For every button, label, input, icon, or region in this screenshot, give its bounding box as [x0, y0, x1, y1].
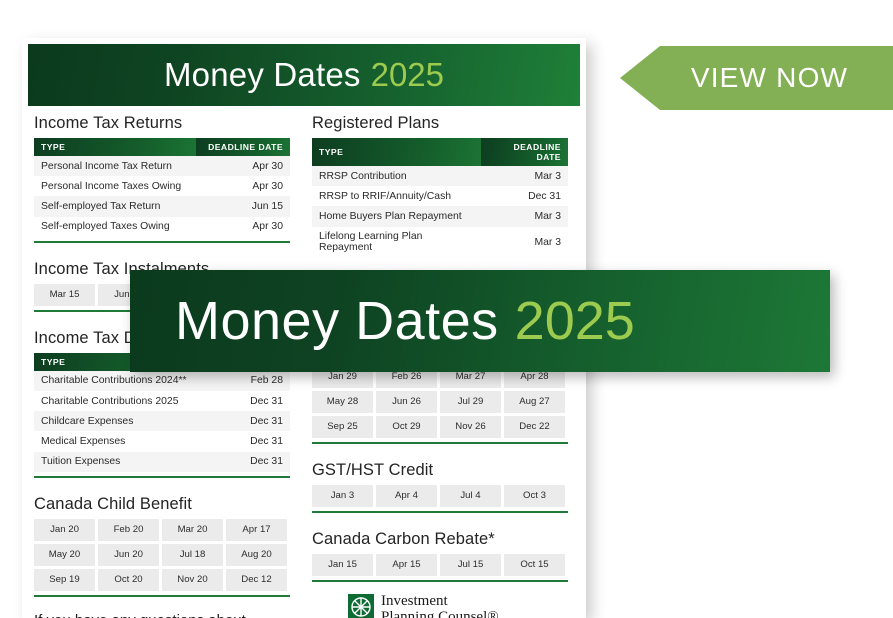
table-header-row: TYPE DEADLINE DATE [34, 138, 290, 156]
date-chip: Nov 20 [162, 569, 223, 591]
cell-type: RRSP to RRIF/Annuity/Cash [312, 186, 481, 206]
card-header-banner: Money Dates 2025 [28, 44, 580, 106]
cell-date: Dec 31 [198, 452, 290, 472]
date-chip: Jul 18 [162, 544, 223, 566]
table-row: Charitable Contributions 2025 Dec 31 [34, 391, 290, 411]
footer-note-text: If you have any questions about [34, 612, 290, 618]
table-header-row: TYPE DEADLINE DATE [312, 138, 568, 166]
date-chip: Nov 26 [440, 416, 501, 438]
col-header-deadline: DEADLINE DATE [196, 138, 290, 156]
cell-type: Personal Income Taxes Owing [34, 176, 196, 196]
cell-type: Charitable Contributions 2025 [34, 391, 198, 411]
date-chip: Jul 4 [440, 485, 501, 507]
cell-date: Mar 3 [481, 206, 568, 226]
table-row: Childcare Expenses Dec 31 [34, 411, 290, 431]
col-header-type: TYPE [34, 138, 196, 156]
card-header-title: Money Dates [164, 56, 361, 94]
logo-line-1: Investment [381, 594, 499, 610]
ccr-date-chips: Jan 15 Apr 15 Jul 15 Oct 15 [312, 554, 568, 576]
logo-text: Investment Planning Counsel® [381, 594, 499, 618]
date-chip: May 28 [312, 391, 373, 413]
section-canada-carbon-rebate: Canada Carbon Rebate* Jan 15 Apr 15 Jul … [312, 530, 568, 582]
date-chip: Mar 20 [162, 519, 223, 541]
registered-plans-table: TYPE DEADLINE DATE RRSP Contribution Mar… [312, 138, 568, 258]
ccb-date-chips: Jan 20 Feb 20 Mar 20 Apr 17 May 20 Jun 2… [34, 519, 290, 591]
gst-date-chips: Jan 3 Apr 4 Jul 4 Oct 3 [312, 485, 568, 507]
date-chip: Oct 15 [504, 554, 565, 576]
section-canada-child-benefit: Canada Child Benefit Jan 20 Feb 20 Mar 2… [34, 495, 290, 597]
section-title: Registered Plans [312, 114, 568, 133]
date-chip: Mar 15 [34, 284, 95, 306]
section-registered-plans: Registered Plans TYPE DEADLINE DATE RRSP… [312, 114, 568, 258]
date-chip: Oct 29 [376, 416, 437, 438]
pinwheel-logo-icon [348, 594, 374, 618]
cell-date: Jun 15 [196, 196, 290, 216]
company-logo: Investment Planning Counsel® [312, 594, 568, 618]
income-tax-returns-table: TYPE DEADLINE DATE Personal Income Tax R… [34, 138, 290, 237]
section-title: Income Tax Returns [34, 114, 290, 133]
cell-type: Home Buyers Plan Repayment [312, 206, 481, 226]
section-gst-hst-credit: GST/HST Credit Jan 3 Apr 4 Jul 4 Oct 3 [312, 461, 568, 513]
table-row: RRSP Contribution Mar 3 [312, 166, 568, 186]
view-now-label: VIEW NOW [691, 62, 848, 94]
table-row: Self-employed Tax Return Jun 15 [34, 196, 290, 216]
date-chip: Jan 20 [34, 519, 95, 541]
date-chip: Apr 17 [226, 519, 287, 541]
section-old-age-security: Jan 29 Feb 26 Mar 27 Apr 28 May 28 Jun 2… [312, 366, 568, 444]
cell-date: Apr 30 [196, 156, 290, 176]
overlay-title: Money Dates [175, 290, 499, 352]
col-header-deadline: DEADLINE DATE [481, 138, 568, 166]
section-divider [312, 442, 568, 444]
cell-date: Apr 30 [196, 217, 290, 237]
date-chip: Oct 20 [98, 569, 159, 591]
date-chip: Jul 29 [440, 391, 501, 413]
table-row: Medical Expenses Dec 31 [34, 431, 290, 451]
date-chip: Jan 3 [312, 485, 373, 507]
section-divider [34, 476, 290, 478]
section-divider [312, 580, 568, 582]
oas-date-chips: Jan 29 Feb 26 Mar 27 Apr 28 May 28 Jun 2… [312, 366, 568, 438]
section-divider [34, 241, 290, 243]
section-income-tax-returns: Income Tax Returns TYPE DEADLINE DATE Pe… [34, 114, 290, 243]
table-row: Home Buyers Plan Repayment Mar 3 [312, 206, 568, 226]
cell-type: Tuition Expenses [34, 452, 198, 472]
table-row: Self-employed Taxes Owing Apr 30 [34, 217, 290, 237]
date-chip: Dec 12 [226, 569, 287, 591]
date-chip: Sep 19 [34, 569, 95, 591]
cell-type: Lifelong Learning Plan Repayment [312, 227, 481, 258]
date-chip: Feb 20 [98, 519, 159, 541]
cell-date: Dec 31 [481, 186, 568, 206]
date-chip: Jul 15 [440, 554, 501, 576]
cell-date: Dec 31 [198, 411, 290, 431]
overlay-year: 2025 [515, 290, 635, 352]
section-title: GST/HST Credit [312, 461, 568, 480]
section-title: Canada Child Benefit [34, 495, 290, 514]
cell-date: Mar 3 [481, 227, 568, 258]
date-chip: Dec 22 [504, 416, 565, 438]
cell-date: Mar 3 [481, 166, 568, 186]
table-row: Personal Income Tax Return Apr 30 [34, 156, 290, 176]
table-row: Lifelong Learning Plan Repayment Mar 3 [312, 227, 568, 258]
date-chip: Apr 4 [376, 485, 437, 507]
cell-type: Self-employed Taxes Owing [34, 217, 196, 237]
cell-type: Charitable Contributions 2024** [34, 371, 198, 391]
cell-type: Childcare Expenses [34, 411, 198, 431]
cell-type: Medical Expenses [34, 431, 198, 451]
date-chip: Aug 27 [504, 391, 565, 413]
cell-date: Apr 30 [196, 176, 290, 196]
cell-date: Dec 31 [198, 431, 290, 451]
cell-date: Dec 31 [198, 391, 290, 411]
date-chip: Jun 20 [98, 544, 159, 566]
cell-type: RRSP Contribution [312, 166, 481, 186]
cell-type: Personal Income Tax Return [34, 156, 196, 176]
card-header-year: 2025 [371, 56, 444, 94]
table-row: RRSP to RRIF/Annuity/Cash Dec 31 [312, 186, 568, 206]
table-row: Personal Income Taxes Owing Apr 30 [34, 176, 290, 196]
date-chip: Jan 15 [312, 554, 373, 576]
section-title: Canada Carbon Rebate* [312, 530, 568, 549]
view-now-button[interactable]: VIEW NOW [620, 46, 893, 110]
section-divider [312, 511, 568, 513]
date-chip: Jun 26 [376, 391, 437, 413]
overlay-title-banner[interactable]: Money Dates 2025 [130, 270, 830, 372]
cell-date: Feb 28 [198, 371, 290, 391]
cell-type: Self-employed Tax Return [34, 196, 196, 216]
date-chip: Oct 3 [504, 485, 565, 507]
date-chip: Aug 20 [226, 544, 287, 566]
date-chip: Apr 15 [376, 554, 437, 576]
col-header-type: TYPE [312, 138, 481, 166]
date-chip: May 20 [34, 544, 95, 566]
table-row: Charitable Contributions 2024** Feb 28 [34, 371, 290, 391]
date-chip: Sep 25 [312, 416, 373, 438]
table-row: Tuition Expenses Dec 31 [34, 452, 290, 472]
logo-line-2: Planning Counsel® [381, 610, 499, 618]
section-divider [34, 595, 290, 597]
